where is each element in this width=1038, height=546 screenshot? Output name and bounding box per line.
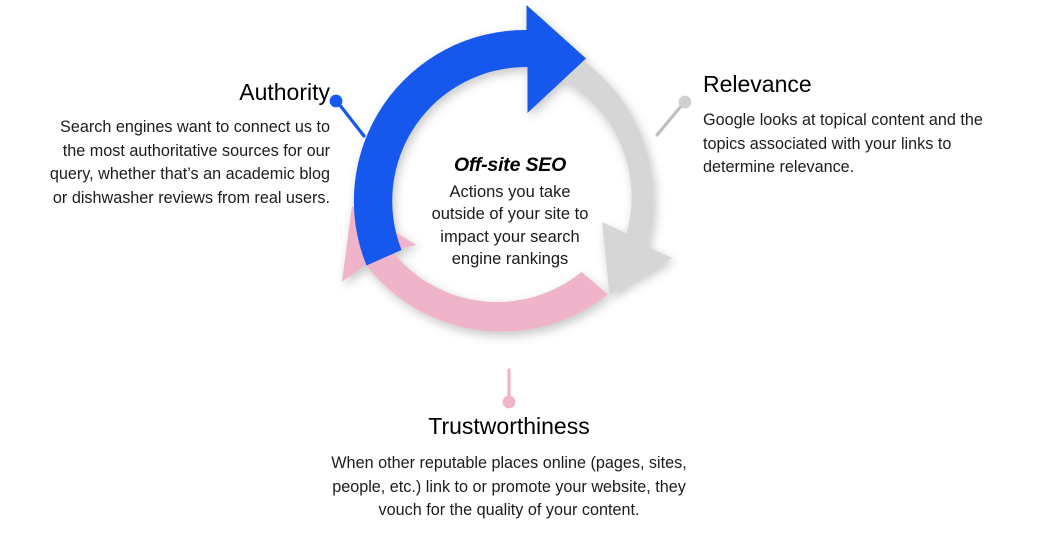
callout-trustworthiness-body: When other reputable places online (page…: [289, 452, 729, 523]
diagram-canvas: Off-site SEO Actions you take outside of…: [0, 0, 1038, 546]
callout-relevance-body: Google looks at topical content and the …: [703, 109, 1023, 180]
center-title: Off-site SEO: [404, 152, 616, 178]
callout-authority: Authority Search engines want to connect…: [8, 78, 330, 210]
callout-authority-body: Search engines want to connect us to the…: [8, 116, 330, 210]
callout-line: Google looks at topical content and the: [703, 109, 1023, 133]
callout-line: determine relevance.: [703, 156, 1023, 180]
center-description: Actions you take outside of your site to…: [404, 181, 616, 270]
callout-line: people, etc.) link to or promote your we…: [289, 476, 729, 500]
center-label: Off-site SEO Actions you take outside of…: [404, 152, 616, 270]
center-description-line: Actions you take: [404, 181, 616, 203]
callout-line: vouch for the quality of your content.: [289, 499, 729, 523]
callout-authority-heading: Authority: [8, 78, 330, 106]
center-description-line: outside of your site to: [404, 203, 616, 225]
callout-relevance: Relevance Google looks at topical conten…: [703, 70, 1023, 180]
callout-trustworthiness: Trustworthiness When other reputable pla…: [289, 412, 729, 523]
callout-trustworthiness-heading: Trustworthiness: [289, 412, 729, 440]
callout-line: topics associated with your links to: [703, 133, 1023, 157]
center-description-line: engine rankings: [404, 248, 616, 270]
callout-line: the most authoritative sources for our: [8, 140, 330, 164]
callout-line: When other reputable places online (page…: [289, 452, 729, 476]
center-description-line: impact your search: [404, 226, 616, 248]
callout-line: Search engines want to connect us to: [8, 116, 330, 140]
callout-line: query, whether that’s an academic blog: [8, 163, 330, 187]
callout-line: or dishwasher reviews from real users.: [8, 187, 330, 211]
callout-relevance-heading: Relevance: [703, 70, 1023, 98]
